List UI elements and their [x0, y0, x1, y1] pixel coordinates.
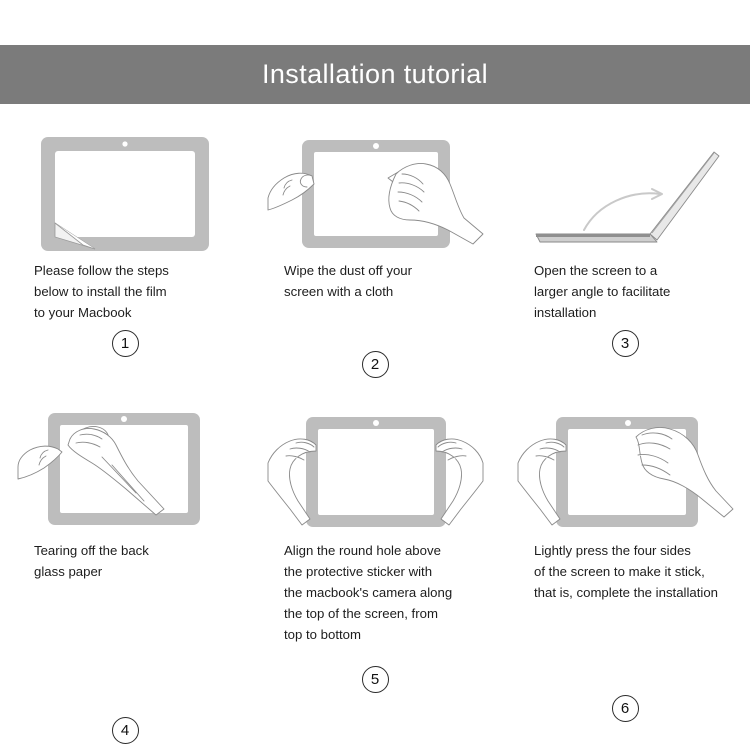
step-6-caption: Lightly press the four sides of the scre… [512, 540, 738, 652]
tutorial-step-3: Open the screen to a larger angle to fac… [500, 128, 750, 378]
step-3-caption: Open the screen to a larger angle to fac… [512, 260, 738, 326]
step-badge-1: 1 [112, 330, 139, 357]
caption-line: the top of the screen, from [284, 603, 470, 624]
tutorial-step-5: Align the round hole above the protectiv… [250, 400, 500, 744]
illustration-laptop-side-view-opening-arrow [512, 128, 738, 260]
step-badge-6: 6 [612, 695, 639, 722]
illustration-two-hands-aligning-film [262, 400, 488, 540]
caption-line: Wipe the dust off your [284, 260, 470, 281]
caption-line: Tearing off the back [34, 540, 220, 561]
caption-line: the macbook's camera along [284, 582, 470, 603]
caption-line: that is, complete the installation [534, 582, 720, 603]
tutorial-step-2: Wipe the dust off your screen with a clo… [250, 128, 500, 378]
caption-line: screen with a cloth [284, 281, 470, 302]
caption-line: Lightly press the four sides [534, 540, 720, 561]
tutorial-step-1: Please follow the steps below to install… [0, 128, 250, 378]
page-title: Installation tutorial [262, 59, 488, 90]
step-badge-3: 3 [612, 330, 639, 357]
caption-line: below to install the film [34, 281, 220, 302]
step-2-caption: Wipe the dust off your screen with a clo… [262, 260, 488, 326]
illustration-tablet-with-peeling-film-corner [12, 128, 238, 260]
tutorial-step-grid: Please follow the steps below to install… [0, 128, 750, 744]
step-4-caption: Tearing off the back glass paper [12, 540, 238, 652]
caption-line: top to bottom [284, 624, 470, 645]
caption-line: glass paper [34, 561, 220, 582]
illustration-hand-peeling-back-glass-paper [12, 400, 238, 540]
step-1-caption: Please follow the steps below to install… [12, 260, 238, 326]
step-badge-2: 2 [362, 351, 389, 378]
header-banner: Installation tutorial [0, 45, 750, 104]
caption-line: Align the round hole above [284, 540, 470, 561]
step-badge-4: 4 [112, 717, 139, 744]
caption-line: the protective sticker with [284, 561, 470, 582]
tutorial-step-6: Lightly press the four sides of the scre… [500, 400, 750, 744]
caption-line: installation [534, 302, 720, 323]
caption-line: Open the screen to a [534, 260, 720, 281]
illustration-hand-pressing-film-onto-screen [512, 400, 738, 540]
step-badge-5: 5 [362, 666, 389, 693]
tutorial-step-4: Tearing off the back glass paper 4 [0, 400, 250, 744]
illustration-hand-wiping-screen-with-cloth [262, 128, 488, 260]
caption-line: Please follow the steps [34, 260, 220, 281]
step-5-caption: Align the round hole above the protectiv… [262, 540, 488, 652]
caption-line: of the screen to make it stick, [534, 561, 720, 582]
caption-line: larger angle to facilitate [534, 281, 720, 302]
caption-line: to your Macbook [34, 302, 220, 323]
